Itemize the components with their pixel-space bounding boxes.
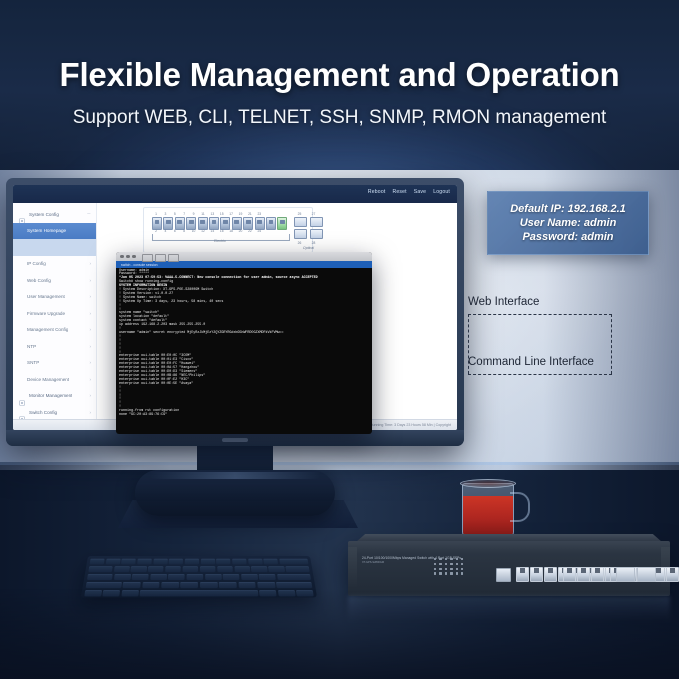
reboot-button[interactable]: Reboot — [368, 189, 386, 195]
maximize-icon[interactable] — [132, 255, 136, 259]
rj45-port — [577, 567, 590, 582]
port-number: 11 — [199, 212, 207, 216]
rj45-port — [666, 567, 679, 582]
web-ui-actions[interactable]: Reboot Reset Save Logout — [368, 189, 450, 195]
sidebar-item-label: Monitor Management — [29, 393, 72, 398]
chevron-right-icon: › — [90, 311, 91, 316]
key — [87, 574, 113, 580]
port-number: 9 — [190, 212, 198, 216]
port-number: 8 — [180, 229, 188, 233]
headline-title: Flexible Management and Operation — [0, 56, 679, 94]
key — [259, 574, 276, 580]
sidebar-item-label: Switch Config — [29, 410, 57, 415]
rj45-port — [544, 567, 557, 582]
split-icon[interactable] — [155, 254, 166, 262]
port-number: 10 — [190, 229, 198, 233]
terminal-line: none "GC:20:A3:89:76:C9" — [119, 414, 369, 418]
sfp-slot — [637, 567, 656, 582]
sfp-row-bottom[interactable] — [294, 229, 323, 239]
port-number: 18 — [227, 229, 235, 233]
mug-handle — [510, 492, 530, 522]
key — [200, 582, 218, 588]
sidebar-item-ntp[interactable]: NTP› — [13, 338, 96, 355]
sidebar-item-device-management[interactable]: Device Management› — [13, 371, 96, 388]
sidebar-item-system-information[interactable]: System Information — [13, 239, 96, 256]
sidebar-item-web-config[interactable]: Web Config› — [13, 272, 96, 289]
credentials-box: Default IP: 192.168.2.1 User Name: admin… — [487, 191, 649, 255]
chevron-right-icon: › — [90, 410, 91, 415]
sidebar-item-sntp[interactable]: SNTP› — [13, 355, 96, 372]
leader-line-vertical-left — [468, 314, 469, 374]
terminal-tab[interactable]: switch - console session — [116, 261, 372, 268]
sidebar-item-label: System Config — [29, 212, 59, 217]
monitor-stand-highlight — [150, 472, 320, 479]
key — [105, 559, 120, 565]
terminal-tab-label: switch - console session — [121, 263, 158, 267]
monitor-logo — [222, 438, 248, 442]
sfp-group: 2527 2628 Optical — [294, 212, 323, 250]
chevron-right-icon: › — [90, 393, 91, 398]
port-number: 7 — [180, 212, 188, 216]
key — [88, 566, 112, 572]
port-number: 13 — [208, 212, 216, 216]
keyboard-row — [88, 566, 310, 572]
chevron-right-icon: › — [90, 261, 91, 266]
bottom-vignette — [0, 589, 679, 679]
key — [257, 582, 275, 588]
sidebar-item-ip-config[interactable]: IP Config› — [13, 256, 96, 273]
leader-line-vertical — [611, 314, 612, 374]
product-marketing-image: Flexible Management and Operation Suppor… — [0, 0, 679, 679]
port-number: 16 — [218, 229, 226, 233]
sidebar-item-label: Web Config — [19, 278, 51, 283]
key — [113, 574, 130, 580]
sfp-number: 27 — [308, 212, 319, 216]
sfp-port[interactable] — [294, 217, 307, 227]
rj45-port — [516, 567, 529, 582]
port-diagram-panel: 1357911131517192123 24681012141618202224… — [143, 207, 313, 253]
sidebar-item-label: SNTP — [19, 360, 39, 365]
chevron-right-icon: › — [90, 377, 91, 382]
rj45-port — [591, 567, 604, 582]
mug-rim — [460, 479, 516, 488]
collapse-icon: － — [87, 211, 91, 217]
port-number: 5 — [171, 212, 179, 216]
web-leader-line — [468, 314, 612, 315]
sidebar-item-label: NTP — [19, 344, 36, 349]
sfp-port[interactable] — [294, 229, 307, 239]
sidebar-item-label: System Information — [19, 245, 67, 250]
web-ui-topbar: Reboot Reset Save Logout — [13, 185, 457, 203]
port-number: 2 — [152, 229, 160, 233]
sfp-slot — [616, 567, 635, 582]
sfp-row-top[interactable] — [294, 217, 323, 227]
sidebar-item-label: Device Management — [19, 377, 69, 382]
key — [205, 574, 222, 580]
gear-icon — [19, 211, 25, 217]
sidebar-item-firmware-upgrade[interactable]: Firmware Upgrade› — [13, 305, 96, 322]
key — [276, 582, 312, 588]
key — [185, 559, 199, 565]
key — [183, 566, 199, 572]
reset-button[interactable]: Reset — [392, 189, 406, 195]
port-number: 3 — [161, 212, 169, 216]
sidebar-item-label: Management Config — [19, 327, 68, 332]
port-number: 24 — [255, 229, 263, 233]
key — [263, 559, 278, 565]
monitor-icon — [19, 393, 25, 399]
minimize-icon[interactable] — [126, 255, 130, 259]
port-number: 14 — [208, 229, 216, 233]
port-number: 12 — [199, 229, 207, 233]
cli-terminal-window[interactable]: switch - console session Username: admin… — [116, 252, 372, 434]
port-number: 4 — [161, 229, 169, 233]
sfp-port-group — [616, 567, 656, 582]
switch-port[interactable] — [277, 217, 287, 230]
key — [285, 566, 309, 572]
key — [86, 582, 122, 588]
sidebar-item-label: User Management — [19, 294, 65, 299]
sfp-port[interactable] — [310, 217, 323, 227]
sfp-number: 28 — [308, 241, 319, 245]
terminal-toolbar-icons[interactable] — [142, 254, 179, 262]
sidebar-item-monitor-management[interactable]: Monitor Management› — [13, 388, 96, 405]
username-text: User Name: admin — [520, 217, 617, 229]
default-ip-text: Default IP: 192.168.2.1 — [510, 203, 626, 215]
key — [165, 566, 181, 572]
cli-label: Command Line Interface — [468, 356, 594, 368]
close-icon[interactable] — [120, 255, 124, 259]
sidebar-item-management-config[interactable]: Management Config› — [13, 322, 96, 339]
save-button[interactable]: Save — [414, 189, 426, 195]
switch-port[interactable] — [266, 217, 276, 230]
sidebar-item-system-config[interactable]: System Config－ — [13, 206, 96, 223]
key — [232, 559, 247, 565]
chevron-right-icon: › — [90, 327, 91, 332]
key — [217, 566, 233, 572]
port-top-numbers: 1357911131517192123 — [152, 212, 263, 216]
chevron-right-icon: › — [90, 360, 91, 365]
rack-ear-left — [348, 547, 357, 587]
sidebar-item-system-homepage[interactable]: System Homepage — [13, 223, 96, 240]
port-bottom-numbers: 24681012141618202224 — [152, 229, 263, 233]
port-number: 20 — [237, 229, 245, 233]
key — [123, 582, 141, 588]
port-number: 23 — [255, 212, 263, 216]
key — [142, 582, 160, 588]
desk-edge — [0, 462, 679, 465]
port-number: 21 — [246, 212, 254, 216]
network-switch: 24-Port 10/100/1000Mbps Managed Switch w… — [348, 541, 670, 596]
key — [200, 566, 216, 572]
sfp-top-numbers: 2527 — [294, 212, 323, 216]
sidebar-item-label: System Homepage — [19, 228, 66, 233]
keyboard-row — [90, 559, 309, 565]
key — [150, 574, 167, 580]
mug-liquid — [463, 496, 513, 536]
key — [187, 574, 204, 580]
key — [234, 566, 250, 572]
sfp-number: 25 — [294, 212, 305, 216]
keyboard-row — [86, 582, 313, 588]
mug — [462, 483, 514, 537]
port-number: 15 — [218, 212, 226, 216]
sidebar-item-label: IP Config — [19, 261, 46, 266]
sfp-bottom-numbers: 2628 — [294, 241, 323, 245]
key — [161, 582, 179, 588]
keyboard-row — [87, 574, 311, 580]
port-number: 6 — [171, 229, 179, 233]
web-interface-label: Web Interface — [468, 296, 539, 308]
new-tab-icon[interactable] — [142, 254, 153, 262]
key — [279, 559, 308, 565]
sfp-number: 26 — [294, 241, 305, 245]
settings-icon[interactable] — [168, 254, 179, 262]
port-number: 19 — [237, 212, 245, 216]
key — [268, 566, 284, 572]
key — [201, 559, 215, 565]
key — [241, 574, 258, 580]
sidebar-item-user-management[interactable]: User Management› — [13, 289, 96, 306]
headline-subtitle: Support WEB, CLI, TELNET, SSH, SNMP, RMO… — [0, 107, 679, 129]
key — [153, 559, 168, 565]
key — [216, 559, 230, 565]
key — [223, 574, 240, 580]
terminal-titlebar[interactable] — [116, 252, 372, 261]
console-port — [496, 568, 511, 582]
switch-model-sublabel: XT-GPS-S2800GM — [362, 561, 384, 564]
key — [168, 574, 185, 580]
key — [132, 574, 149, 580]
key — [121, 559, 136, 565]
key — [238, 582, 256, 588]
rj45-port — [530, 567, 543, 582]
port-number: 1 — [152, 212, 160, 216]
rj45-port — [563, 567, 576, 582]
switch-icon — [19, 409, 25, 415]
key — [137, 559, 152, 565]
key — [219, 582, 237, 588]
key — [277, 574, 311, 580]
port-number: 17 — [227, 212, 235, 216]
optical-label: Optical — [294, 246, 323, 250]
port-number: 22 — [246, 229, 254, 233]
key — [90, 559, 105, 565]
password-text: Password: admin — [522, 231, 613, 243]
key — [148, 566, 164, 572]
key — [113, 566, 129, 572]
sfp-port[interactable] — [310, 229, 323, 239]
electric-label: Electric — [152, 239, 288, 243]
switch-led-array — [434, 558, 463, 575]
chevron-right-icon: › — [90, 344, 91, 349]
key — [169, 559, 183, 565]
cli-leader-line — [468, 374, 612, 375]
logout-button[interactable]: Logout — [433, 189, 450, 195]
terminal-output: Username: adminPassword: ******Jun 05 20… — [116, 268, 372, 419]
chevron-right-icon: › — [90, 278, 91, 283]
key — [181, 582, 199, 588]
web-ui-sidebar[interactable]: System Config－System HomepageSystem Info… — [13, 203, 97, 420]
key — [251, 566, 267, 572]
key — [248, 559, 263, 565]
key — [131, 566, 147, 572]
chevron-right-icon: › — [90, 294, 91, 299]
sidebar-item-label: Firmware Upgrade — [19, 311, 65, 316]
